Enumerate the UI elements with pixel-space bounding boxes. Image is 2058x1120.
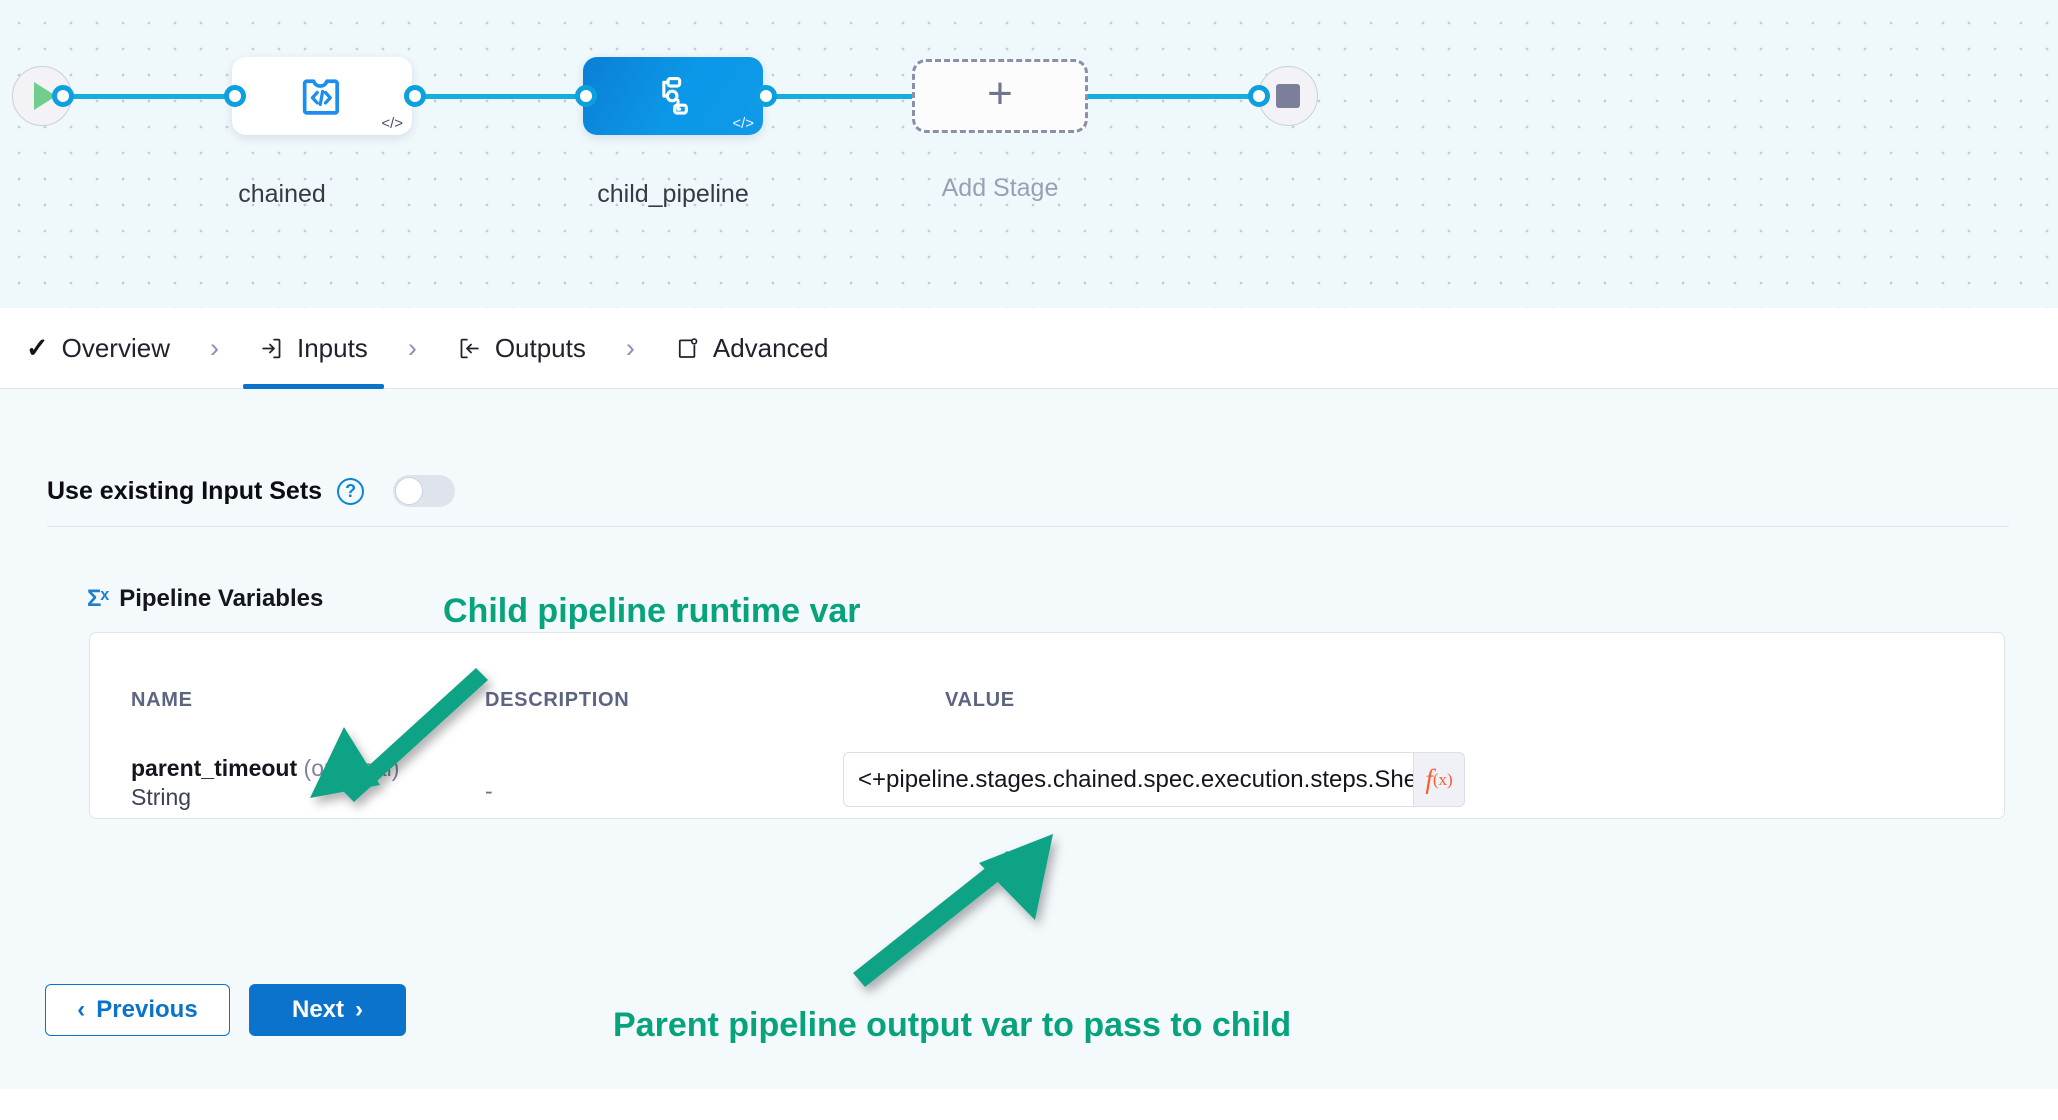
check-icon: ✓ bbox=[26, 333, 49, 364]
plus-icon: + bbox=[987, 72, 1013, 116]
variable-value-input[interactable]: <+pipeline.stages.chained.spec.execution… bbox=[843, 752, 1413, 807]
tab-inputs[interactable]: Inputs bbox=[241, 308, 386, 389]
custom-stage-code-icon bbox=[296, 70, 348, 122]
tab-outputs[interactable]: Outputs bbox=[439, 308, 604, 389]
pipeline-variables-card: NAME DESCRIPTION VALUE parent_timeout (o… bbox=[89, 632, 2005, 819]
pipeline-variables-title: Pipeline Variables bbox=[119, 585, 323, 613]
sigma-x-icon: Σˣ bbox=[87, 585, 108, 613]
annotation-label-parent-output-var: Parent pipeline output var to pass to ch… bbox=[613, 1006, 1291, 1045]
footer-spacer bbox=[0, 1089, 2058, 1120]
pipeline-variables-header: Σˣ Pipeline Variables bbox=[87, 585, 323, 613]
expression-fx-button[interactable]: f(x) bbox=[1413, 752, 1465, 807]
tab-inputs-label: Inputs bbox=[297, 333, 368, 364]
table-row-value-cell: <+pipeline.stages.chained.spec.execution… bbox=[843, 752, 1465, 807]
chevron-right-icon: › bbox=[355, 996, 363, 1024]
node-port[interactable] bbox=[52, 85, 74, 107]
stage-label-chained: chained bbox=[152, 180, 412, 209]
previous-button-label: Previous bbox=[96, 996, 197, 1024]
table-row-name-cell: parent_timeout (optional) String bbox=[131, 754, 399, 812]
chevron-left-icon: ‹ bbox=[77, 996, 85, 1024]
outputs-arrow-icon bbox=[457, 336, 482, 361]
stage-label-add-stage: Add Stage bbox=[870, 174, 1130, 203]
tab-separator-icon: › bbox=[386, 333, 439, 364]
add-stage-button[interactable]: + bbox=[912, 59, 1088, 133]
pipeline-chain-icon bbox=[648, 71, 698, 121]
column-header-value: VALUE bbox=[945, 689, 1015, 712]
code-badge-icon: </> bbox=[732, 116, 754, 131]
stage-node-child-pipeline[interactable]: </> bbox=[583, 57, 763, 135]
fx-subscript: (x) bbox=[1433, 770, 1453, 790]
node-port[interactable] bbox=[755, 85, 777, 107]
annotation-label-child-runtime-var: Child pipeline runtime var bbox=[443, 592, 861, 631]
toggle-knob bbox=[395, 477, 423, 505]
node-port[interactable] bbox=[224, 85, 246, 107]
variable-optional-tag: (optional) bbox=[304, 755, 400, 781]
code-badge-icon: </> bbox=[381, 116, 403, 131]
stage-node-chained[interactable]: </> bbox=[232, 57, 412, 135]
tab-advanced[interactable]: Advanced bbox=[657, 308, 847, 389]
question-circle-icon[interactable]: ? bbox=[337, 478, 364, 505]
node-port[interactable] bbox=[575, 85, 597, 107]
connector-wire bbox=[52, 94, 242, 99]
tab-advanced-label: Advanced bbox=[713, 333, 829, 364]
stage-label-child-pipeline: child_pipeline bbox=[543, 180, 803, 209]
table-row-description-cell: - bbox=[485, 778, 493, 805]
fx-letter: f bbox=[1425, 764, 1433, 795]
tab-separator-icon: › bbox=[604, 333, 657, 364]
use-existing-input-sets-toggle[interactable] bbox=[393, 475, 455, 507]
tab-overview-label: Overview bbox=[62, 333, 170, 364]
advanced-gear-icon bbox=[675, 336, 700, 361]
stage-tab-bar: ✓ Overview › Inputs › Outputs › Advanced bbox=[0, 308, 2058, 389]
tab-overview[interactable]: ✓ Overview bbox=[8, 308, 188, 389]
next-button[interactable]: Next › bbox=[249, 984, 406, 1036]
divider bbox=[47, 526, 2009, 527]
column-header-name: NAME bbox=[131, 689, 193, 712]
node-port[interactable] bbox=[404, 85, 426, 107]
variable-type: String bbox=[131, 783, 399, 812]
pipeline-canvas[interactable]: </> chained </> child_pipeline + Add Sta… bbox=[0, 0, 2058, 308]
use-existing-input-sets-label: Use existing Input Sets bbox=[47, 477, 322, 506]
tab-separator-icon: › bbox=[188, 333, 241, 364]
next-button-label: Next bbox=[292, 996, 344, 1024]
stop-icon bbox=[1276, 84, 1300, 108]
inputs-arrow-icon bbox=[259, 336, 284, 361]
node-port[interactable] bbox=[1248, 85, 1270, 107]
use-existing-input-sets-row: Use existing Input Sets ? bbox=[47, 475, 455, 507]
previous-button[interactable]: ‹ Previous bbox=[45, 984, 230, 1036]
column-header-description: DESCRIPTION bbox=[485, 689, 629, 712]
variable-name: parent_timeout bbox=[131, 755, 297, 781]
tab-outputs-label: Outputs bbox=[495, 333, 586, 364]
